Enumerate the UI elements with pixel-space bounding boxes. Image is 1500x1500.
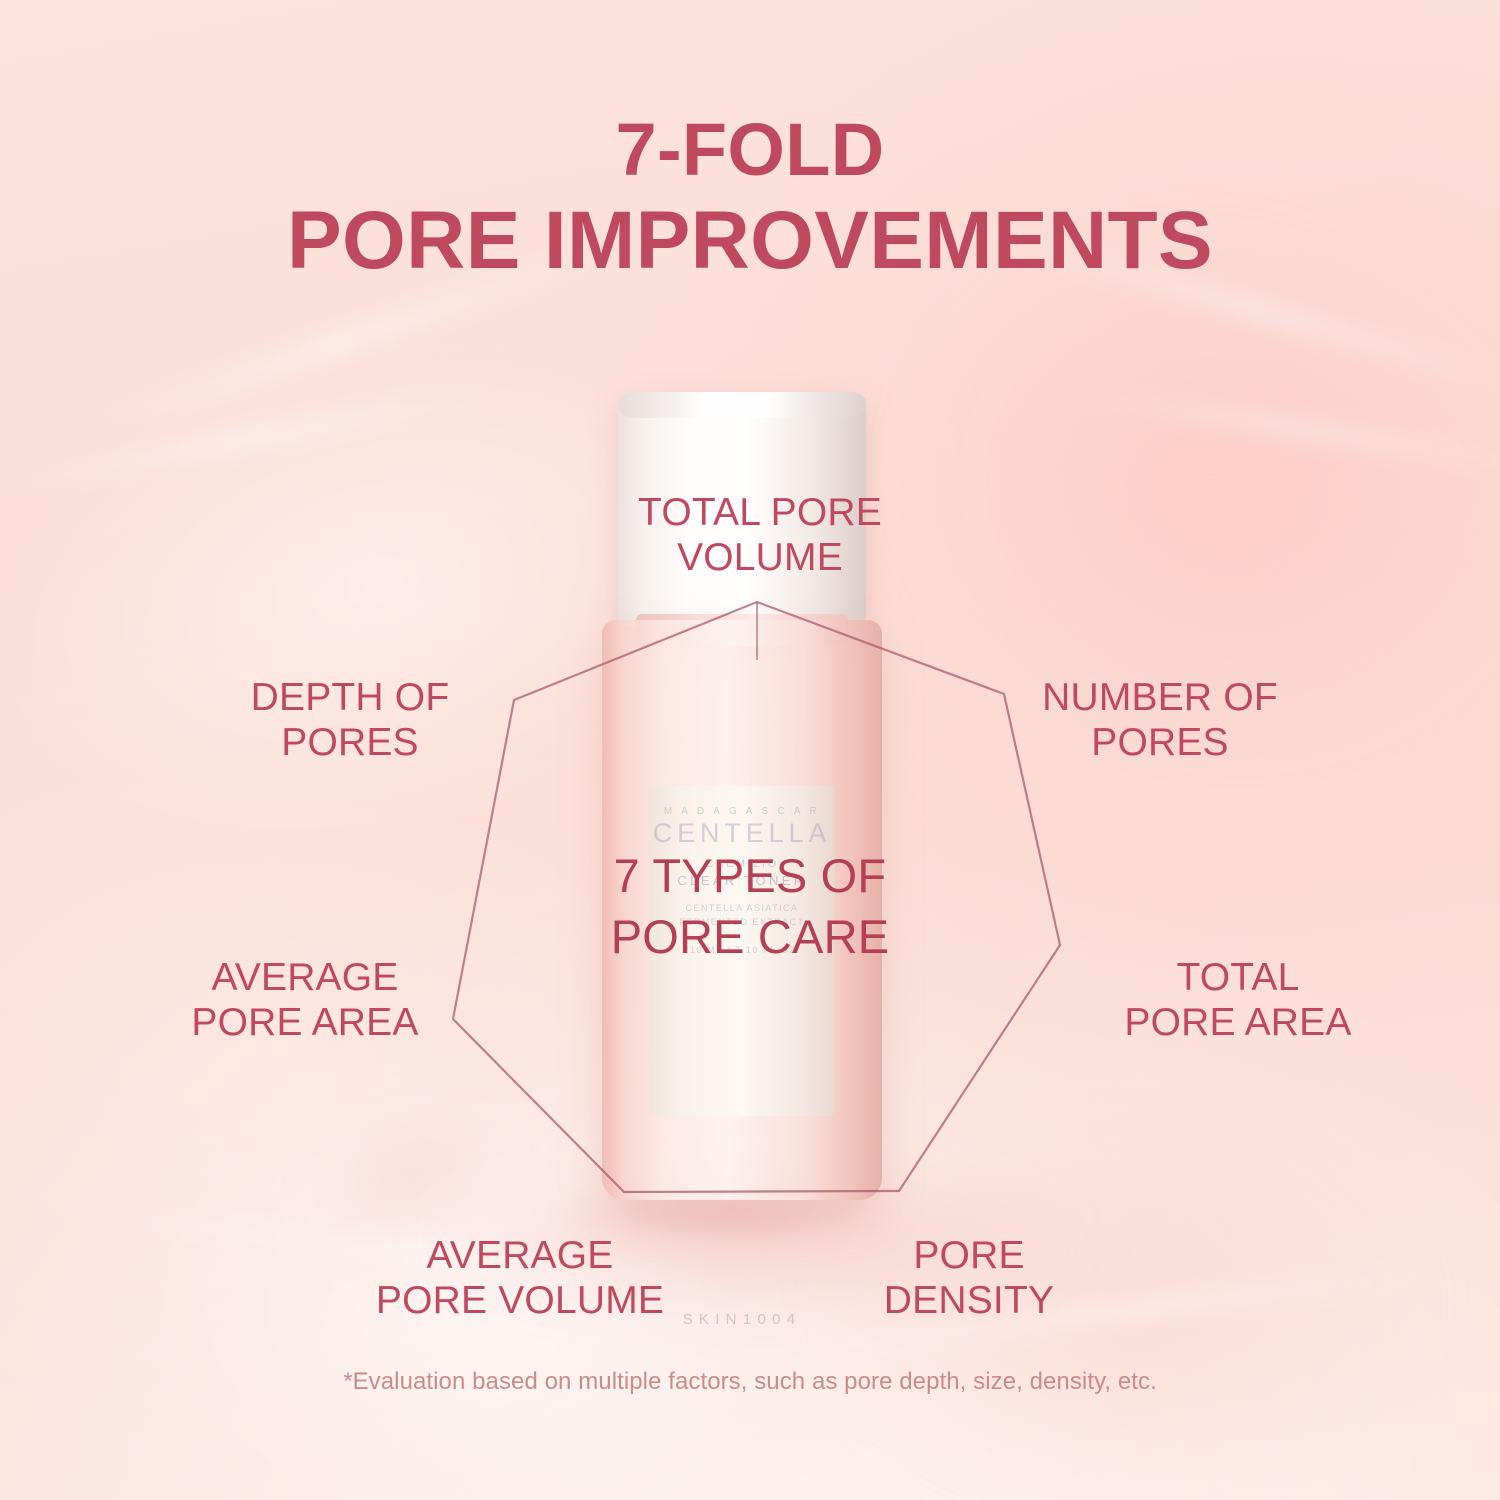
- node-label-total-pore-area: TOTAL PORE AREA: [1048, 955, 1428, 1045]
- center-label: 7 TYPES OF PORE CARE: [0, 845, 1500, 967]
- infographic-canvas: 7-FOLD PORE IMPROVEMENTS M A D A G A S C…: [0, 0, 1500, 1500]
- node-label-number-of-pores: NUMBER OF PORES: [960, 675, 1360, 765]
- node-label-depth-of-pores: DEPTH OF PORES: [180, 675, 520, 765]
- footnote: *Evaluation based on multiple factors, s…: [0, 1368, 1500, 1396]
- node-label-pore-density: PORE DENSITY: [824, 1233, 1114, 1323]
- node-label-average-pore-volume: AVERAGE PORE VOLUME: [320, 1233, 720, 1323]
- node-label-average-pore-area: AVERAGE PORE AREA: [125, 955, 485, 1045]
- node-label-total-pore-volume: TOTAL PORE VOLUME: [530, 490, 990, 580]
